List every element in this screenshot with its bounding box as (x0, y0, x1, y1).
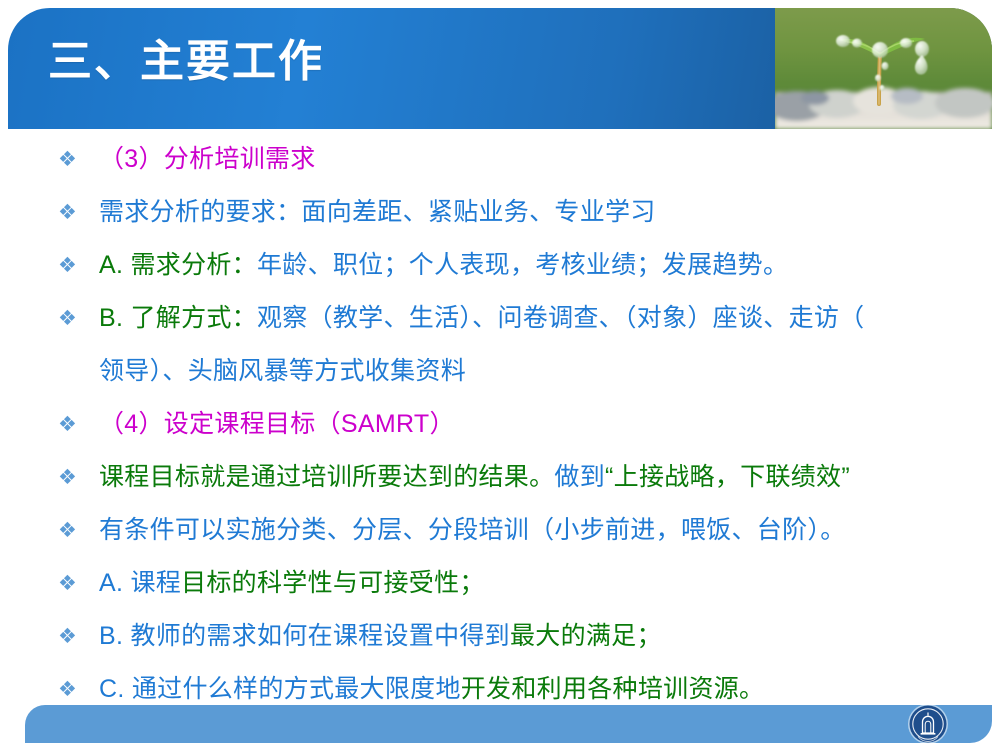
university-crest-icon (907, 703, 949, 745)
text-run: 有条件可以实施分类、分层、分段培训（小步前进，喂饭、台阶）。 (99, 516, 846, 544)
bullet-text: 领导）、头脑风暴等方式收集资料 (62, 345, 1000, 398)
bullet-text: （4）设定课程目标（SAMRT） (62, 398, 455, 451)
diamond-bullet-icon: ❖ (58, 557, 84, 610)
diamond-bullet-icon: ❖ (58, 610, 84, 663)
bullet-line: ❖A. 需求分析：年龄、职位；个人表现，考核业绩；发展趋势。 (0, 239, 1000, 292)
diamond-bullet-icon: ❖ (58, 451, 84, 504)
bullet-continuation-line: 领导）、头脑风暴等方式收集资料 (0, 345, 1000, 398)
diamond-bullet-icon: ❖ (58, 239, 84, 292)
text-run: （3）分析培训需求 (99, 145, 316, 173)
seedling-photo (775, 8, 992, 129)
slide-canvas: 三、主要工作 (0, 0, 1000, 750)
bullet-line: ❖B. 了解方式：观察（教学、生活）、问卷调查、（对象）座谈、走访（ (0, 292, 1000, 345)
text-run: （4）设定课程目标（SAMRT） (99, 410, 455, 438)
diamond-bullet-icon: ❖ (58, 186, 84, 239)
bullet-line: ❖（3）分析培训需求 (0, 133, 1000, 186)
bullet-text: A. 课程目标的科学性与可接受性； (62, 557, 485, 610)
text-run: 需求分析的要求：面向差距、紧贴业务、专业学习 (99, 198, 656, 226)
diamond-bullet-icon: ❖ (58, 504, 84, 557)
text-run: A. 需求分析： (99, 251, 257, 279)
diamond-bullet-icon: ❖ (58, 398, 84, 451)
text-run: A. 课程 (99, 569, 181, 597)
text-run: 年龄、职位；个人表现，考核业绩；发展趋势。 (257, 251, 788, 279)
text-run: B. 了解方式： (99, 304, 257, 332)
diamond-bullet-icon: ❖ (58, 133, 84, 186)
bullet-text: （3）分析培训需求 (62, 133, 316, 186)
text-run: 观察（教学、生活）、问卷调查、（对象）座谈、走访（ (257, 304, 865, 332)
text-run: “上接战略，下联绩效” (605, 463, 850, 491)
bullet-list: ❖（3）分析培训需求❖需求分析的要求：面向差距、紧贴业务、专业学习❖A. 需求分… (0, 133, 1000, 716)
bullet-line: ❖有条件可以实施分类、分层、分段培训（小步前进，喂饭、台阶）。 (0, 504, 1000, 557)
bullet-text: B. 教师的需求如何在课程设置中得到最大的满足； (62, 610, 662, 663)
text-run: C. 通过什么样的方式最大限度地 (99, 675, 461, 703)
text-run: 最大的满足； (510, 622, 662, 650)
bullet-text: 课程目标就是通过培训所要达到的结果。做到“上接战略，下联绩效” (62, 451, 850, 504)
bullet-text: A. 需求分析：年龄、职位；个人表现，考核业绩；发展趋势。 (62, 239, 788, 292)
bullet-line: ❖课程目标就是通过培训所要达到的结果。做到“上接战略，下联绩效” (0, 451, 1000, 504)
text-run: B. 教师的需求如何在课程设置中得到 (99, 622, 510, 650)
bullet-text: 需求分析的要求：面向差距、紧贴业务、专业学习 (62, 186, 656, 239)
bullet-line: ❖（4）设定课程目标（SAMRT） (0, 398, 1000, 451)
text-run: 做到 (554, 463, 605, 491)
text-run: 目标的科学性与可接受性； (181, 569, 485, 597)
bullet-line: ❖A. 课程目标的科学性与可接受性； (0, 557, 1000, 610)
bullet-line: ❖需求分析的要求：面向差距、紧贴业务、专业学习 (0, 186, 1000, 239)
diamond-bullet-icon: ❖ (58, 292, 84, 345)
bullet-text: B. 了解方式：观察（教学、生活）、问卷调查、（对象）座谈、走访（ (62, 292, 864, 345)
page-title: 三、主要工作 (48, 38, 324, 86)
text-run: 领导）、头脑风暴等方式收集资料 (99, 357, 466, 385)
text-run: 开发和利用各种培训资源。 (461, 675, 765, 703)
slide-footer-bar (25, 705, 992, 743)
bullet-text: 有条件可以实施分类、分层、分段培训（小步前进，喂饭、台阶）。 (62, 504, 846, 557)
bullet-line: ❖B. 教师的需求如何在课程设置中得到最大的满足； (0, 610, 1000, 663)
text-run: 课程目标就是通过培训所要达到的结果。 (99, 463, 554, 491)
